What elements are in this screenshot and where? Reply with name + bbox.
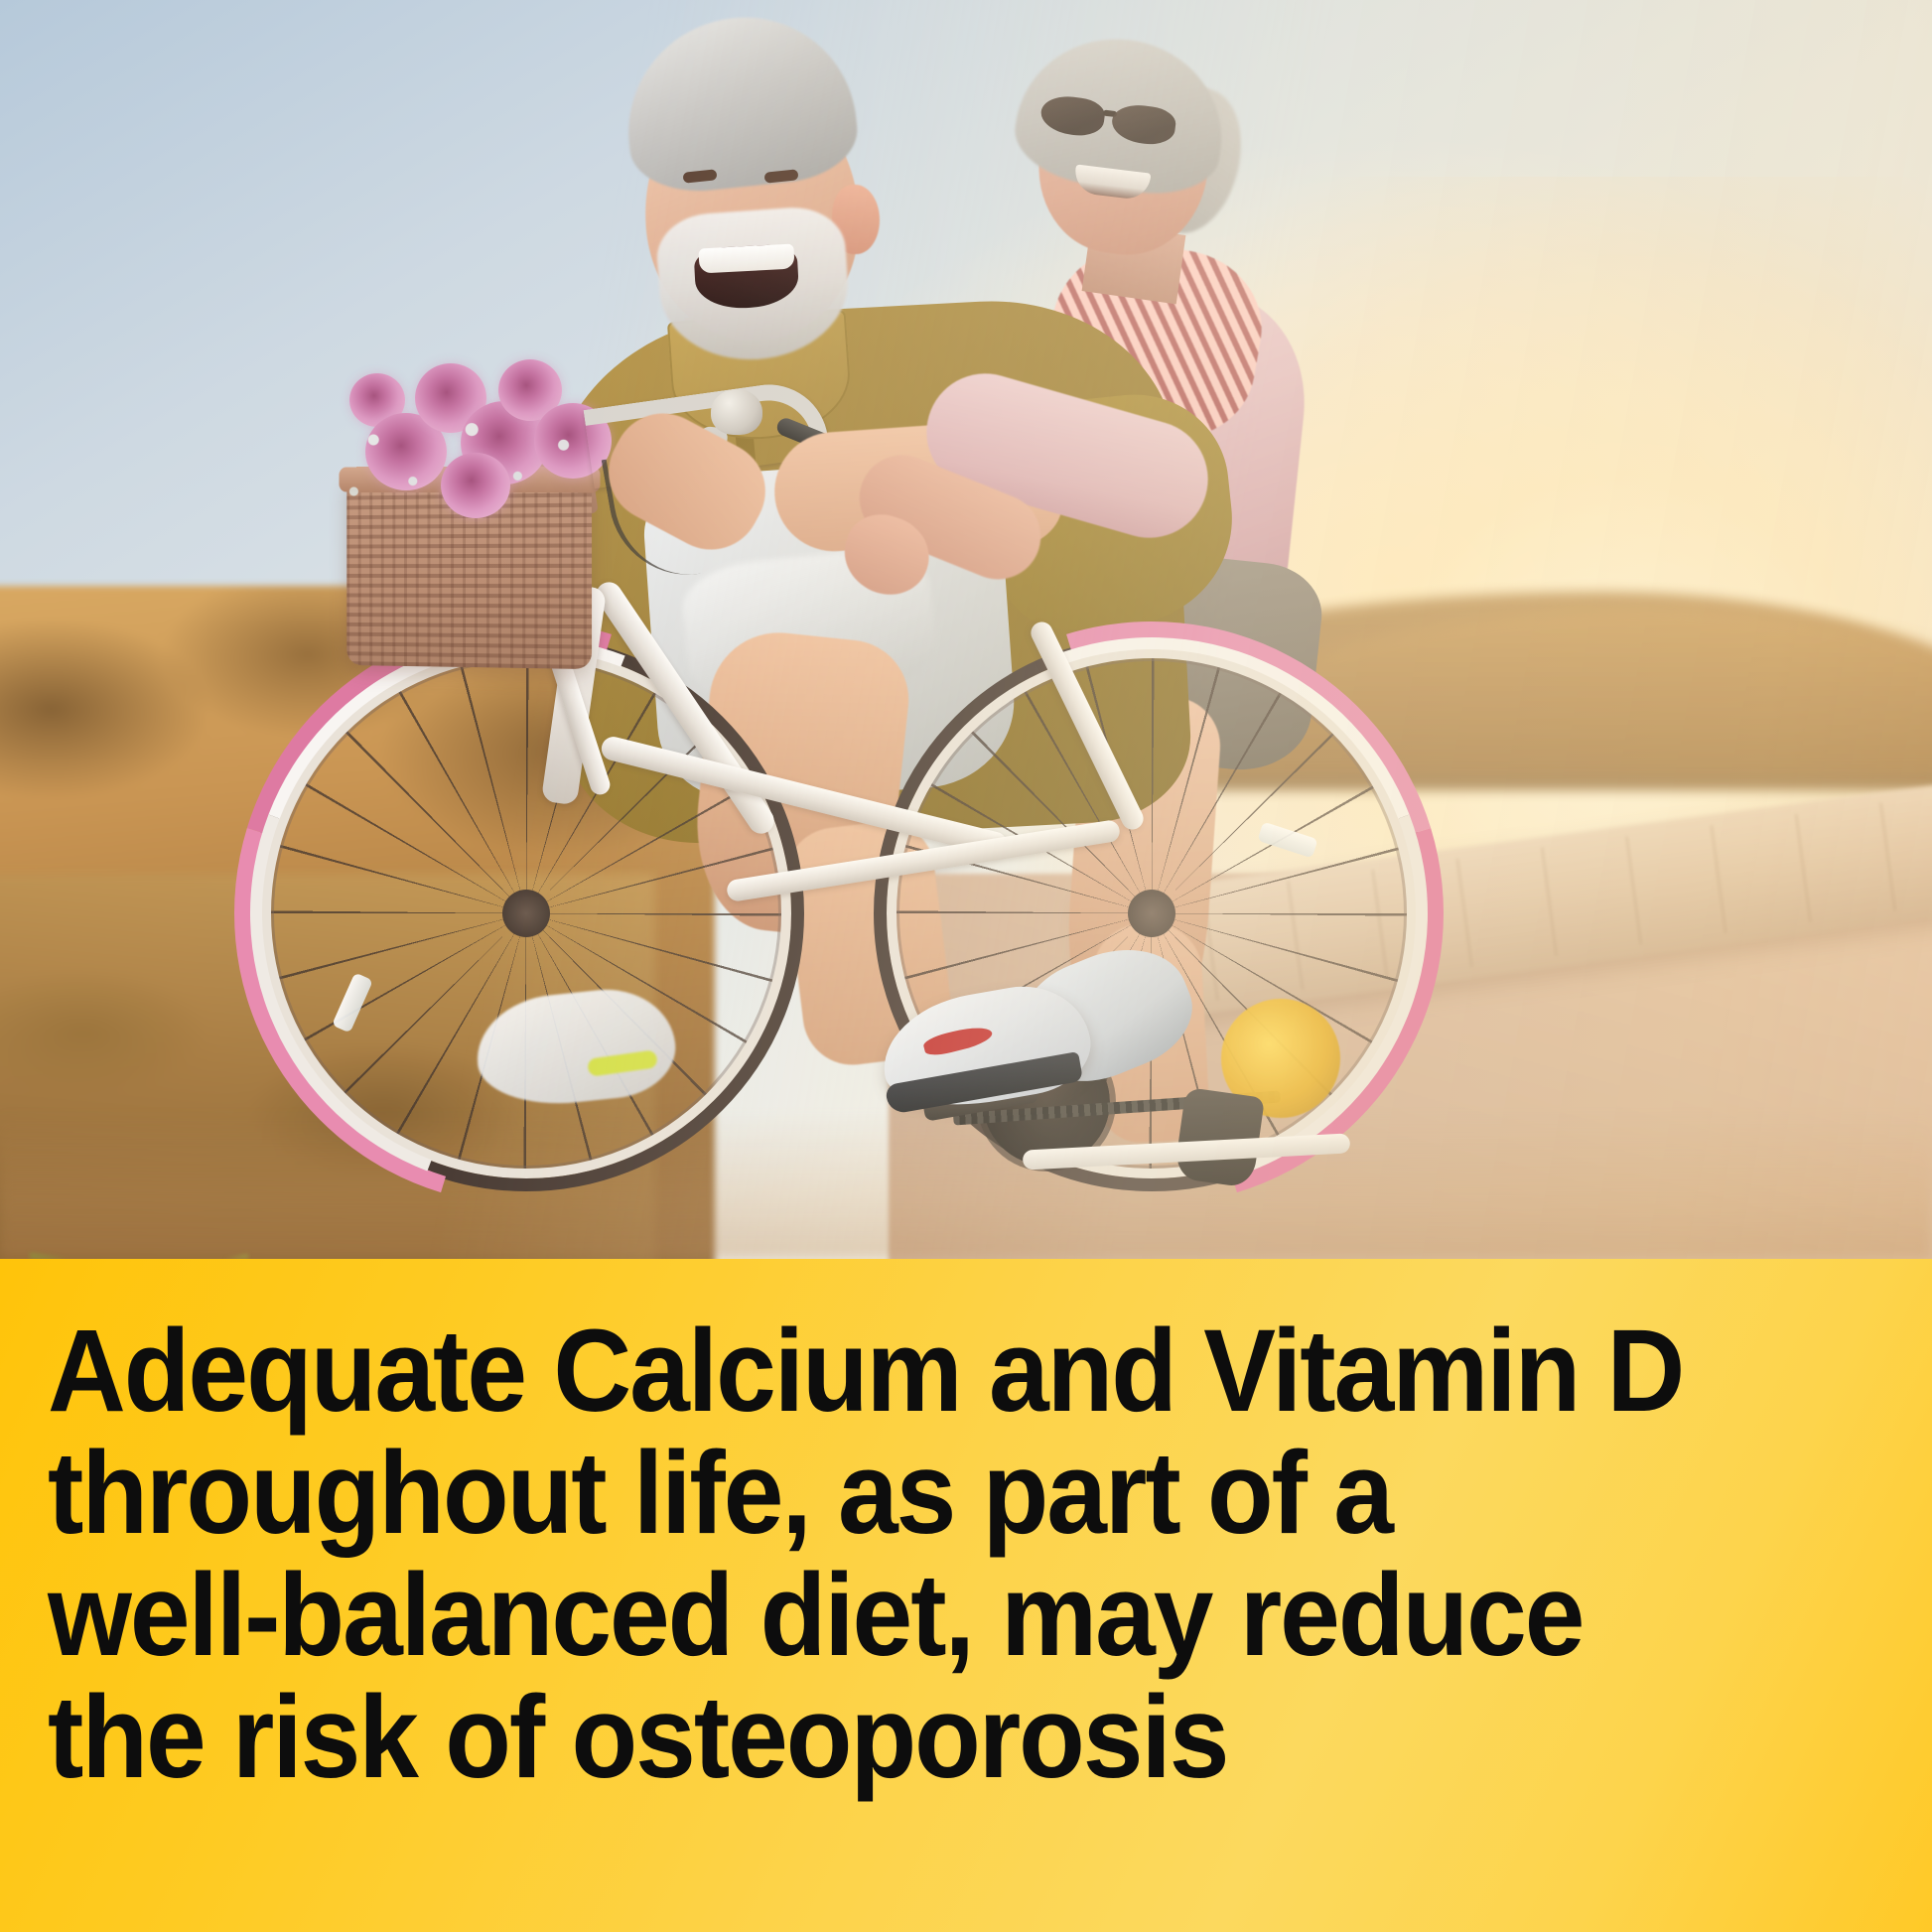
grass-tuft [30,1140,248,1259]
flower-bloom [441,453,510,518]
sunglasses-left-lens [1038,93,1106,139]
sunglasses-right-lens [1110,102,1177,148]
flower-bouquet [349,357,608,516]
caption-banner: Adequate Calcium and Vitamin D throughou… [0,1259,1932,1932]
poster-root: Adequate Calcium and Vitamin D throughou… [0,0,1932,1932]
caption-text: Adequate Calcium and Vitamin D throughou… [48,1311,1757,1799]
bicycle-bell-icon [711,389,762,435]
hero-photo [0,0,1932,1259]
man-teeth [698,244,794,274]
